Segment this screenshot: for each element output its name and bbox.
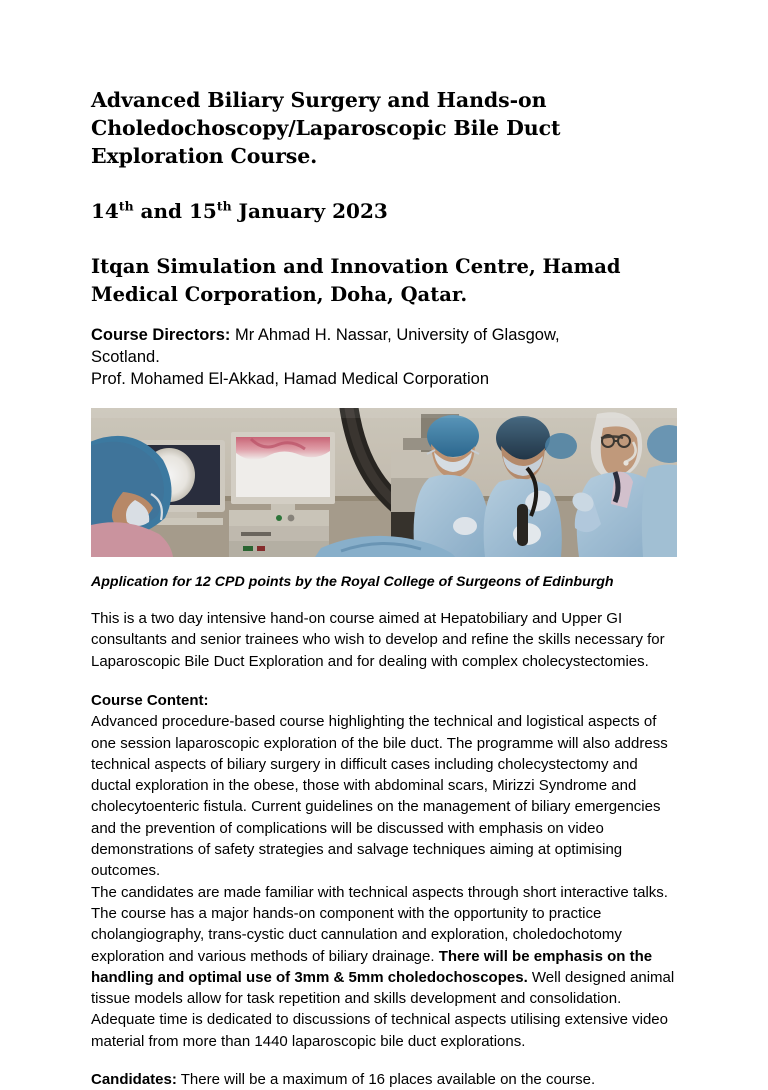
- candidates-text: There will be a maximum of 16 places ava…: [177, 1071, 595, 1088]
- date-day-2-suffix: th: [217, 199, 232, 214]
- course-dates: 14th and 15th January 2023: [91, 198, 677, 224]
- course-directors-label: Course Directors:: [91, 326, 230, 344]
- candidates-label: Candidates:: [91, 1071, 177, 1088]
- cpd-accreditation-caption: Application for 12 CPD points by the Roy…: [91, 573, 677, 591]
- course-director-1: Mr Ahmad H. Nassar, University of Glasgo…: [230, 326, 559, 344]
- title-line-1: Advanced Biliary Surgery and Hands-on: [91, 88, 546, 112]
- date-day-2: 15: [189, 199, 217, 223]
- course-director-2: Prof. Mohamed El-Akkad, Hamad Medical Co…: [91, 370, 489, 388]
- page-title: Advanced Biliary Surgery and Hands-on Ch…: [91, 86, 677, 170]
- course-content-paragraph-2: The candidates are made familiar with te…: [91, 882, 677, 1052]
- title-line-2: Choledochoscopy/Laparoscopic Bile Duct: [91, 116, 560, 140]
- date-day-1-suffix: th: [119, 199, 134, 214]
- venue-line-1: Itqan Simulation and Innovation Centre, …: [91, 255, 621, 278]
- date-month-year: January 2023: [239, 199, 388, 223]
- intro-paragraph: This is a two day intensive hand-on cour…: [91, 608, 677, 672]
- date-day-1: 14: [91, 199, 119, 223]
- course-director-1-location: Scotland.: [91, 348, 160, 366]
- course-content-heading: Course Content:: [91, 690, 677, 711]
- simulation-room-illustration: [91, 408, 677, 557]
- course-content-paragraph-1: Advanced procedure-based course highligh…: [91, 711, 677, 881]
- candidates-paragraph: Candidates: There will be a maximum of 1…: [91, 1069, 677, 1090]
- venue-line-2: Medical Corporation, Doha, Qatar.: [91, 283, 467, 306]
- venue-heading: Itqan Simulation and Innovation Centre, …: [91, 253, 677, 308]
- document-content: Advanced Biliary Surgery and Hands-on Ch…: [91, 86, 677, 1090]
- course-directors: Course Directors: Mr Ahmad H. Nassar, Un…: [91, 325, 677, 391]
- title-line-3: Exploration Course.: [91, 144, 317, 168]
- course-photo-image: [91, 408, 677, 557]
- date-conjunction: and: [141, 199, 182, 223]
- course-photo: [91, 408, 677, 557]
- document-page: Advanced Biliary Surgery and Hands-on Ch…: [0, 0, 768, 1086]
